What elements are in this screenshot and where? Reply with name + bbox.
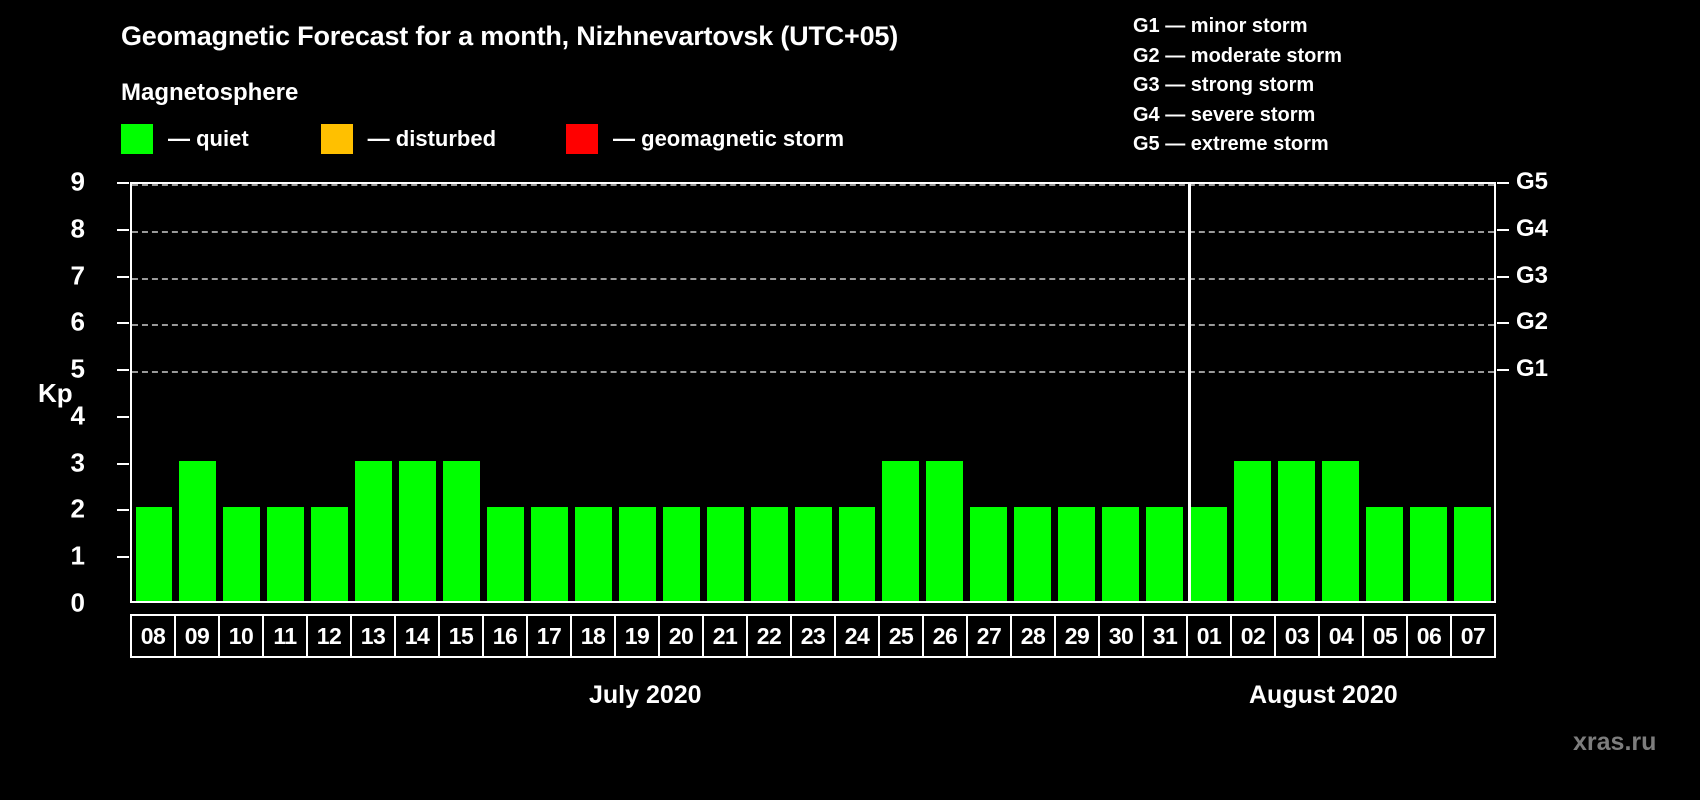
day-cell-23: 23	[792, 616, 836, 656]
day-cell-20: 20	[660, 616, 704, 656]
bar-slot-day-28	[1011, 184, 1055, 601]
day-cell-15: 15	[440, 616, 484, 656]
bar-slot-day-13	[352, 184, 396, 601]
g-scale-legend: G1 — minor storm G2 — moderate storm G3 …	[1133, 12, 1342, 160]
bar-day-10	[223, 507, 260, 601]
day-label: 05	[1373, 623, 1398, 650]
bar-day-22	[751, 507, 788, 601]
orange-square-swatch-icon	[321, 124, 353, 154]
bar-day-31	[1146, 507, 1183, 601]
day-label: 16	[493, 623, 518, 650]
y-tick-label-9: 9	[45, 167, 85, 198]
day-cell-11: 11	[264, 616, 308, 656]
bar-day-30	[1102, 507, 1139, 601]
day-label: 27	[977, 623, 1002, 650]
day-cell-27: 27	[968, 616, 1012, 656]
bar-day-02	[1234, 461, 1271, 601]
g-scale-item-g5: G5 — extreme storm	[1133, 130, 1342, 160]
g-tick-label-g4: G4	[1516, 215, 1548, 243]
day-cell-17: 17	[528, 616, 572, 656]
g-tick-label-g3: G3	[1516, 262, 1548, 290]
bar-day-03	[1278, 461, 1315, 601]
day-label: 26	[933, 623, 958, 650]
y-tick-mark-6	[117, 322, 129, 324]
bar-slot-day-15	[440, 184, 484, 601]
bar-slot-day-26	[923, 184, 967, 601]
day-label: 07	[1461, 623, 1486, 650]
bar-day-23	[795, 507, 832, 601]
day-label: 11	[273, 623, 296, 650]
bar-slot-day-23	[791, 184, 835, 601]
day-cell-31: 31	[1144, 616, 1188, 656]
bar-day-05	[1366, 507, 1403, 601]
day-cell-18: 18	[572, 616, 616, 656]
day-label: 12	[317, 623, 342, 650]
y-tick-label-8: 8	[45, 213, 85, 244]
bar-slot-day-17	[527, 184, 571, 601]
day-label: 09	[185, 623, 210, 650]
day-cell-26: 26	[924, 616, 968, 656]
month-divider-line	[1188, 184, 1191, 601]
day-label: 20	[669, 623, 694, 650]
bar-day-11	[267, 507, 304, 601]
day-cell-09: 09	[176, 616, 220, 656]
day-cell-03: 03	[1276, 616, 1320, 656]
y-tick-mark-3	[117, 463, 129, 465]
bar-slot-day-22	[747, 184, 791, 601]
bar-slot-day-09	[176, 184, 220, 601]
month-label-july: July 2020	[589, 681, 702, 710]
bar-slot-day-02	[1230, 184, 1274, 601]
day-cell-29: 29	[1056, 616, 1100, 656]
day-label: 28	[1021, 623, 1046, 650]
day-cell-04: 04	[1320, 616, 1364, 656]
red-square-swatch-icon	[566, 124, 598, 154]
bar-day-20	[663, 507, 700, 601]
day-cell-05: 05	[1364, 616, 1408, 656]
g-tick-mark-g2	[1497, 322, 1509, 324]
legend-item-quiet: — quiet	[121, 124, 249, 154]
g-tick-label-g1: G1	[1516, 355, 1548, 383]
y-tick-label-7: 7	[45, 260, 85, 291]
day-label: 04	[1329, 623, 1354, 650]
legend-item-quiet-label: — quiet	[168, 126, 249, 152]
day-cell-01: 01	[1188, 616, 1232, 656]
y-tick-label-0: 0	[45, 588, 85, 619]
bar-day-12	[311, 507, 348, 601]
day-label: 15	[449, 623, 474, 650]
bar-slot-day-21	[703, 184, 747, 601]
y-tick-label-5: 5	[45, 354, 85, 385]
day-cell-21: 21	[704, 616, 748, 656]
bar-slot-day-11	[264, 184, 308, 601]
day-cell-24: 24	[836, 616, 880, 656]
y-tick-mark-8	[117, 229, 129, 231]
bar-day-21	[707, 507, 744, 601]
bar-day-16	[487, 507, 524, 601]
day-cell-08: 08	[132, 616, 176, 656]
bar-slot-day-08	[132, 184, 176, 601]
day-cell-30: 30	[1100, 616, 1144, 656]
bar-slot-day-06	[1406, 184, 1450, 601]
bar-slot-day-10	[220, 184, 264, 601]
bar-day-17	[531, 507, 568, 601]
day-cell-14: 14	[396, 616, 440, 656]
y-tick-label-4: 4	[45, 400, 85, 431]
y-tick-label-6: 6	[45, 307, 85, 338]
bar-slot-day-12	[308, 184, 352, 601]
bar-slot-day-16	[484, 184, 528, 601]
bar-day-18	[575, 507, 612, 601]
day-label: 08	[141, 623, 166, 650]
bar-slot-day-04	[1318, 184, 1362, 601]
g-scale-item-g1: G1 — minor storm	[1133, 12, 1342, 42]
day-cell-02: 02	[1232, 616, 1276, 656]
day-label: 29	[1065, 623, 1090, 650]
day-label: 03	[1285, 623, 1310, 650]
day-cell-16: 16	[484, 616, 528, 656]
bar-slot-day-27	[967, 184, 1011, 601]
day-label: 13	[361, 623, 386, 650]
y-tick-label-1: 1	[45, 541, 85, 572]
day-label: 14	[405, 623, 430, 650]
bar-day-28	[1014, 507, 1051, 601]
g-tick-mark-g5	[1497, 182, 1509, 184]
bar-slot-day-31	[1143, 184, 1187, 601]
bar-day-19	[619, 507, 656, 601]
y-tick-mark-9	[117, 182, 129, 184]
month-label-august: August 2020	[1249, 681, 1398, 710]
bar-day-15	[443, 461, 480, 601]
bar-slot-day-05	[1362, 184, 1406, 601]
day-label: 01	[1197, 623, 1222, 650]
legend-item-storm-label: — geomagnetic storm	[613, 126, 844, 152]
day-cell-07: 07	[1452, 616, 1494, 656]
bar-day-09	[179, 461, 216, 601]
g-tick-mark-g3	[1497, 276, 1509, 278]
plot-inner	[132, 184, 1494, 601]
g-scale-item-g2: G2 — moderate storm	[1133, 42, 1342, 72]
day-label: 21	[713, 623, 738, 650]
legend-item-disturbed-label: — disturbed	[368, 126, 496, 152]
bar-slot-day-20	[659, 184, 703, 601]
y-tick-mark-5	[117, 369, 129, 371]
g-scale-item-g4: G4 — severe storm	[1133, 101, 1342, 131]
bar-slot-day-07	[1450, 184, 1494, 601]
bar-slot-day-30	[1099, 184, 1143, 601]
legend-item-disturbed: — disturbed	[321, 124, 496, 154]
bar-day-29	[1058, 507, 1095, 601]
bar-slot-day-24	[835, 184, 879, 601]
magnetosphere-legend: — quiet — disturbed — geomagnetic storm	[121, 122, 844, 156]
bar-day-27	[970, 507, 1007, 601]
day-label: 06	[1417, 623, 1442, 650]
g-tick-mark-g1	[1497, 369, 1509, 371]
day-label: 23	[801, 623, 826, 650]
y-tick-label-2: 2	[45, 494, 85, 525]
y-tick-mark-4	[117, 416, 129, 418]
bar-slot-day-14	[396, 184, 440, 601]
bar-day-24	[839, 507, 876, 601]
bar-day-25	[882, 461, 919, 601]
bar-day-08	[136, 507, 173, 601]
bars-layer	[132, 184, 1494, 601]
day-label: 31	[1153, 623, 1178, 650]
day-cell-22: 22	[748, 616, 792, 656]
day-label: 19	[625, 623, 650, 650]
day-label: 18	[581, 623, 606, 650]
bar-slot-day-01	[1187, 184, 1231, 601]
bar-day-14	[399, 461, 436, 601]
y-tick-label-3: 3	[45, 447, 85, 478]
day-cell-28: 28	[1012, 616, 1056, 656]
day-cell-10: 10	[220, 616, 264, 656]
y-tick-mark-1	[117, 556, 129, 558]
green-square-swatch-icon	[121, 124, 153, 154]
watermark: xras.ru	[1573, 728, 1656, 757]
bar-slot-day-29	[1055, 184, 1099, 601]
day-cell-19: 19	[616, 616, 660, 656]
day-axis: 0809101112131415161718192021222324252627…	[130, 614, 1496, 658]
bar-day-07	[1454, 507, 1491, 601]
day-cell-13: 13	[352, 616, 396, 656]
bar-day-06	[1410, 507, 1447, 601]
bar-day-01	[1190, 507, 1227, 601]
day-label: 02	[1241, 623, 1266, 650]
day-cell-25: 25	[880, 616, 924, 656]
day-label: 10	[229, 623, 254, 650]
day-label: 22	[757, 623, 782, 650]
plot-area	[130, 182, 1496, 603]
page-title: Geomagnetic Forecast for a month, Nizhne…	[121, 21, 898, 52]
day-label: 30	[1109, 623, 1134, 650]
bar-day-13	[355, 461, 392, 601]
bar-day-26	[926, 461, 963, 601]
g-tick-label-g2: G2	[1516, 308, 1548, 336]
legend-item-geomagnetic-storm: — geomagnetic storm	[566, 124, 844, 154]
day-cell-12: 12	[308, 616, 352, 656]
legend-heading: Magnetosphere	[121, 79, 298, 107]
g-tick-label-g5: G5	[1516, 168, 1548, 196]
day-label: 24	[845, 623, 870, 650]
bar-slot-day-18	[571, 184, 615, 601]
day-label: 25	[889, 623, 914, 650]
day-cell-06: 06	[1408, 616, 1452, 656]
bar-slot-day-03	[1274, 184, 1318, 601]
bar-slot-day-25	[879, 184, 923, 601]
y-tick-mark-2	[117, 509, 129, 511]
bar-day-04	[1322, 461, 1359, 601]
day-label: 17	[537, 623, 562, 650]
bar-slot-day-19	[615, 184, 659, 601]
g-scale-item-g3: G3 — strong storm	[1133, 71, 1342, 101]
y-tick-mark-7	[117, 276, 129, 278]
g-tick-mark-g4	[1497, 229, 1509, 231]
